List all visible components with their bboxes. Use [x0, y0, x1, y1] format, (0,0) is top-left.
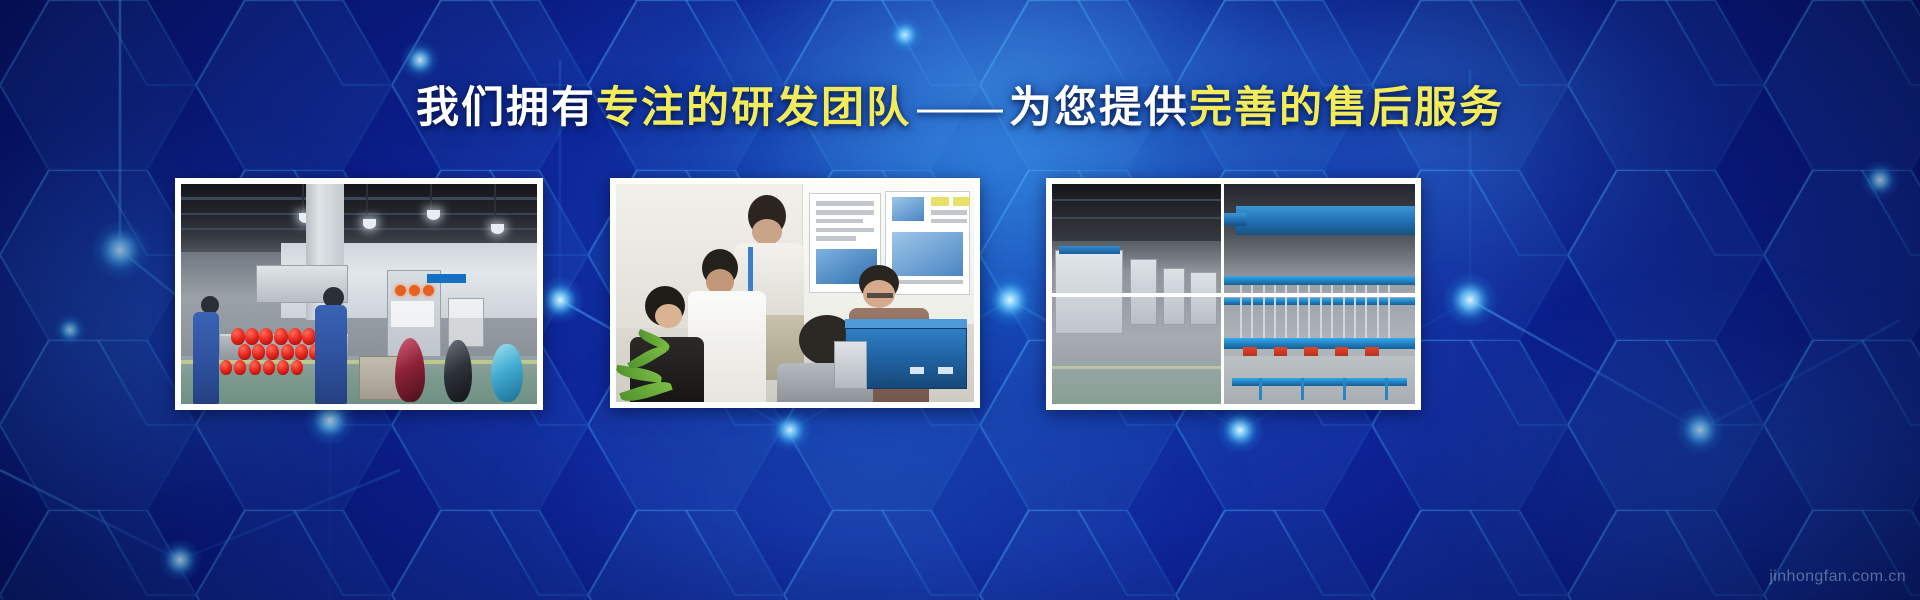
site-watermark: jinhongfan.com.cn [1769, 568, 1906, 586]
factory-spray-line-image [181, 184, 537, 404]
production-lines-image [1052, 184, 1415, 404]
photo-gallery-row [0, 178, 1920, 413]
headline-segment-4: 完善的售后服务 [1189, 84, 1504, 132]
headline-dash: —— [911, 84, 1009, 132]
headline-segment-3: 为您提供 [1009, 84, 1189, 132]
photo-frame-spray-line[interactable] [175, 178, 543, 410]
photo-frame-team-meeting[interactable] [610, 178, 980, 408]
photo-frame-production-lines[interactable] [1046, 178, 1421, 410]
headline-segment-1: 我们拥有 [416, 84, 596, 132]
promo-banner: 我们拥有专注的研发团队——为您提供完善的售后服务 [0, 0, 1920, 600]
page-title: 我们拥有专注的研发团队——为您提供完善的售后服务 [0, 82, 1920, 134]
team-meeting-image [616, 184, 974, 402]
headline-segment-2: 专注的研发团队 [596, 84, 911, 132]
